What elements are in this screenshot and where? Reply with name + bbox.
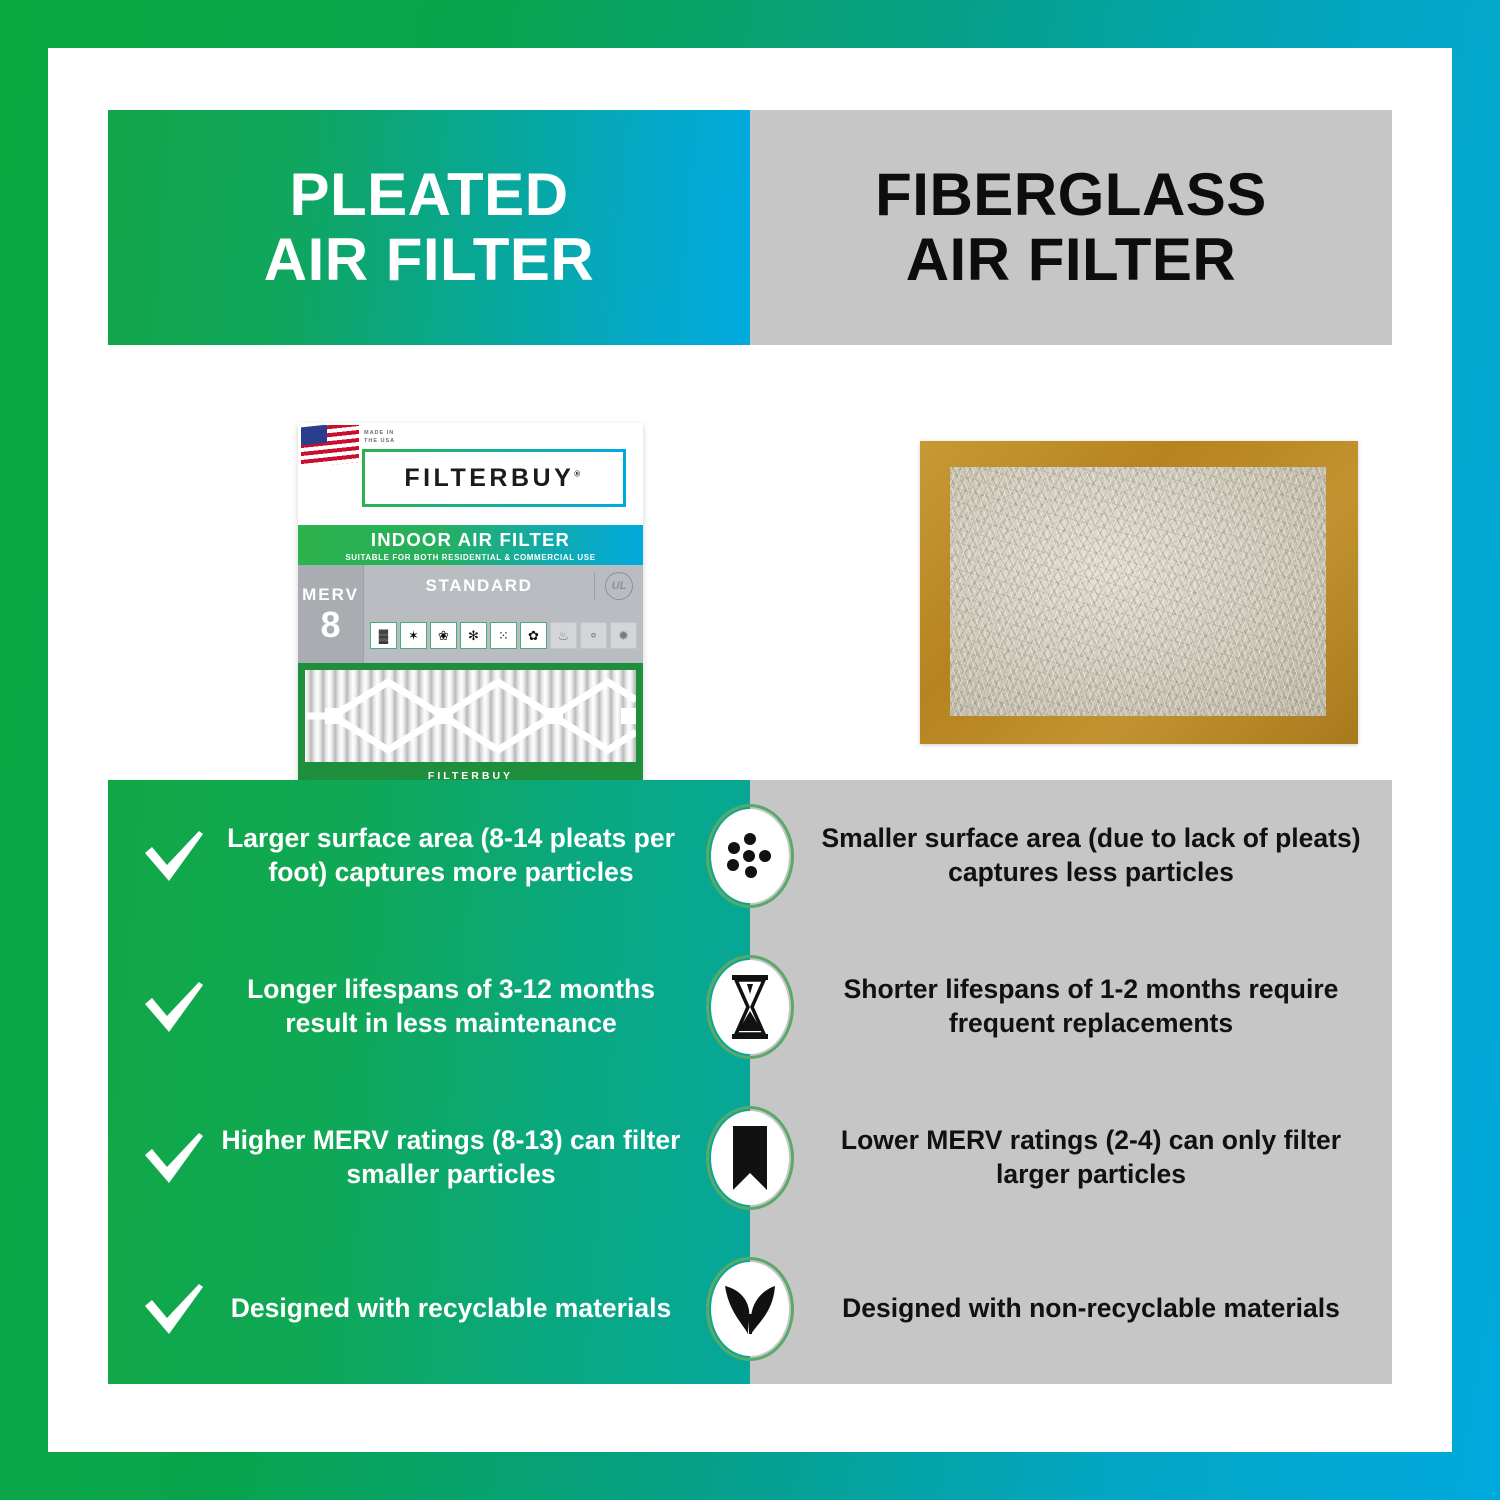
leaf-icon [706,1257,794,1361]
mold-icon: ✻ [460,622,487,649]
pleated-media-section: FILTERBUY [298,663,643,785]
header-pleated-line2: AIR FILTER [264,228,595,293]
comparison-left-text: Higher MERV ratings (8-13) can filter sm… [210,1124,736,1191]
package-indoor-air-filter-band: INDOOR AIR FILTER SUITABLE FOR BOTH RESI… [298,525,643,565]
product-image-row: MADE IN THE USA FILTERBUY® INDOOR AIR FI… [108,345,1392,780]
fiberglass-mesh-media [950,467,1326,716]
filterbuy-logo-box: FILTERBUY® [362,449,626,507]
comparison-panel: Larger surface area (8-14 pleats per foo… [108,780,1392,1384]
hourglass-icon [706,955,794,1059]
particles-icon [706,804,794,908]
package-grade-row: STANDARD UL [363,565,643,607]
pollen-icon: ❀ [430,622,457,649]
package-top-section: MADE IN THE USA FILTERBUY® [298,423,643,525]
filterbuy-brand-word: FILTERBUY [404,464,574,492]
infographic-canvas: PLEATED AIR FILTER FIBERGLASS AIR FILTER [48,48,1452,1452]
package-band-subtitle: SUITABLE FOR BOTH RESIDENTIAL & COMMERCI… [345,553,595,562]
comparison-row-left: Higher MERV ratings (8-13) can filter sm… [108,1082,750,1233]
comparison-row-right: Smaller surface area (due to lack of ple… [750,780,1392,931]
header-pleated: PLEATED AIR FILTER [108,110,750,345]
checkmark-icon [138,1279,210,1339]
dust-mites-icon: ✶ [400,622,427,649]
comparison-row: Designed with recyclable materials Desig… [108,1233,1392,1384]
household-dust-icon: ▓ [370,622,397,649]
diamond-wire-support-icon [305,670,636,762]
made-in-line1: MADE IN [364,429,395,437]
merv-value: 8 [320,607,340,643]
package-capability-icon-row: ▓ ✶ ❀ ✻ ⁙ ✿ ♨ ⚬ ✹ [363,607,643,663]
header-row: PLEATED AIR FILTER FIBERGLASS AIR FILTER [108,110,1392,345]
comparison-row-left: Longer lifespans of 3-12 months result i… [108,931,750,1082]
smoke-icon: ♨ [550,622,577,649]
checkmark-icon [138,1128,210,1188]
comparison-row-left: Designed with recyclable materials [108,1233,750,1384]
bacteria-icon: ⚬ [580,622,607,649]
filterbuy-logo-text: FILTERBUY® [404,464,583,493]
header-fiberglass: FIBERGLASS AIR FILTER [750,110,1392,345]
header-pleated-line1: PLEATED [264,163,595,228]
comparison-right-text: Shorter lifespans of 1-2 months require … [820,973,1362,1040]
header-pleated-title: PLEATED AIR FILTER [264,163,595,293]
comparison-row: Larger surface area (8-14 pleats per foo… [108,780,1392,931]
comparison-row: Longer lifespans of 3-12 months result i… [108,931,1392,1082]
header-fiberglass-line2: AIR FILTER [875,228,1267,293]
comparison-row-right: Lower MERV ratings (2-4) can only filter… [750,1082,1392,1233]
package-grade-label: STANDARD [364,576,594,596]
pleated-filter-product-image: MADE IN THE USA FILTERBUY® INDOOR AIR FI… [298,423,643,785]
comparison-row-right: Designed with non-recyclable materials [750,1233,1392,1384]
usa-flag-icon [301,425,359,465]
merv-label: MERV [302,585,359,605]
ul-certification-label: UL [605,572,633,600]
virus-icon: ✹ [610,622,637,649]
pet-dander-icon: ✿ [520,622,547,649]
comparison-left-text: Designed with recyclable materials [210,1292,736,1325]
comparison-row-right: Shorter lifespans of 1-2 months require … [750,931,1392,1082]
package-spec-section: MERV 8 STANDARD UL ▓ ✶ ❀ [298,565,643,663]
comparison-right-text: Smaller surface area (due to lack of ple… [820,822,1362,889]
comparison-right-text: Lower MERV ratings (2-4) can only filter… [820,1124,1362,1191]
comparison-left-text: Larger surface area (8-14 pleats per foo… [210,822,736,889]
lint-icon: ⁙ [490,622,517,649]
bookmark-icon [706,1106,794,1210]
ul-certification-mark: UL [594,572,643,600]
package-spec-right: STANDARD UL ▓ ✶ ❀ ✻ ⁙ ✿ ♨ [363,565,643,663]
trademark-symbol: ® [574,469,583,478]
made-in-usa-label: MADE IN THE USA [364,429,395,446]
comparison-row-left: Larger surface area (8-14 pleats per foo… [108,780,750,931]
checkmark-icon [138,826,210,886]
comparison-row: Higher MERV ratings (8-13) can filter sm… [108,1082,1392,1233]
package-band-title: INDOOR AIR FILTER [371,529,570,551]
comparison-right-text: Designed with non-recyclable materials [820,1292,1362,1325]
merv-rating-block: MERV 8 [298,565,363,663]
outer-gradient-frame: PLEATED AIR FILTER FIBERGLASS AIR FILTER [0,0,1500,1500]
fiberglass-filter-product-image [920,441,1358,744]
comparison-left-text: Longer lifespans of 3-12 months result i… [210,973,736,1040]
header-fiberglass-line1: FIBERGLASS [875,163,1267,228]
made-in-line2: THE USA [364,437,395,445]
pleated-media [305,670,636,762]
header-fiberglass-title: FIBERGLASS AIR FILTER [875,163,1267,293]
checkmark-icon [138,977,210,1037]
